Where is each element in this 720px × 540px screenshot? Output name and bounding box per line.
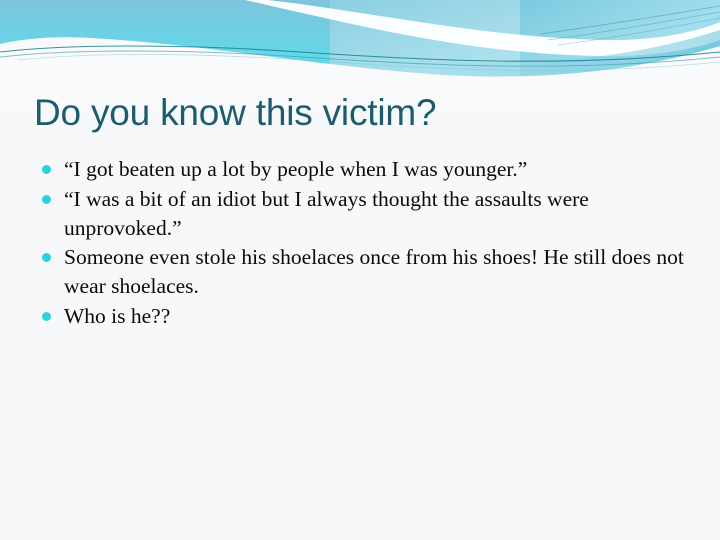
title-placeholder: Do you know this victim? <box>34 92 684 135</box>
bullet-dot-icon <box>42 165 51 174</box>
bullet-dot-icon <box>42 312 51 321</box>
bullet-dot-icon <box>42 253 51 262</box>
list-item-text: “I got beaten up a lot by people when I … <box>64 155 704 184</box>
list-item-text: Who is he?? <box>64 302 704 331</box>
list-item: “I was a bit of an idiot but I always th… <box>34 185 704 243</box>
list-item: Someone even stole his shoelaces once fr… <box>34 243 704 301</box>
list-item-text: “I was a bit of an idiot but I always th… <box>64 185 704 243</box>
page-title: Do you know this victim? <box>34 92 684 135</box>
list-item-text: Someone even stole his shoelaces once fr… <box>64 243 704 301</box>
bullet-dot-icon <box>42 195 51 204</box>
content-placeholder: “I got beaten up a lot by people when I … <box>34 155 704 332</box>
bullet-list: “I got beaten up a lot by people when I … <box>34 155 704 331</box>
list-item: “I got beaten up a lot by people when I … <box>34 155 704 184</box>
list-item: Who is he?? <box>34 302 704 331</box>
presentation-slide: Do you know this victim? “I got beaten u… <box>0 0 720 540</box>
